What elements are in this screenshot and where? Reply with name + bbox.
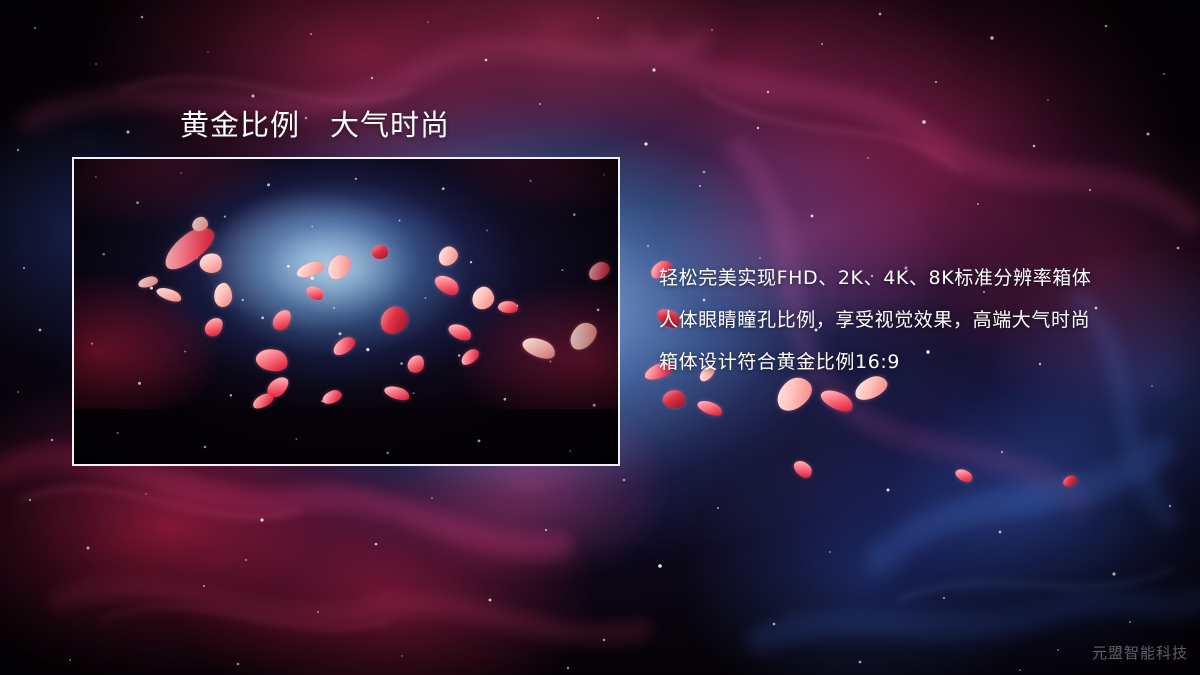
framed-photo (72, 157, 620, 466)
description-line: 轻松完美实现FHD、2K、4K、8K标准分辨率箱体 (659, 257, 1159, 299)
description-line: 箱体设计符合黄金比例16:9 (659, 341, 1159, 383)
petal (791, 457, 815, 481)
frame-vignette (74, 159, 618, 464)
petal (818, 385, 856, 416)
petal (953, 466, 974, 485)
petal (696, 397, 725, 419)
petal (1062, 474, 1078, 487)
page-title: 黄金比例 大气时尚 (180, 102, 450, 144)
description-line: 人体眼睛瞳孔比例，享受视觉效果，高端大气时尚 (659, 299, 1159, 341)
description-block: 轻松完美实现FHD、2K、4K、8K标准分辨率箱体 人体眼睛瞳孔比例，享受视觉效… (659, 257, 1159, 383)
petal (661, 388, 686, 410)
slide-canvas: 黄金比例 大气时尚 (0, 0, 1200, 675)
watermark: 元盟智能科技 (1092, 642, 1188, 663)
